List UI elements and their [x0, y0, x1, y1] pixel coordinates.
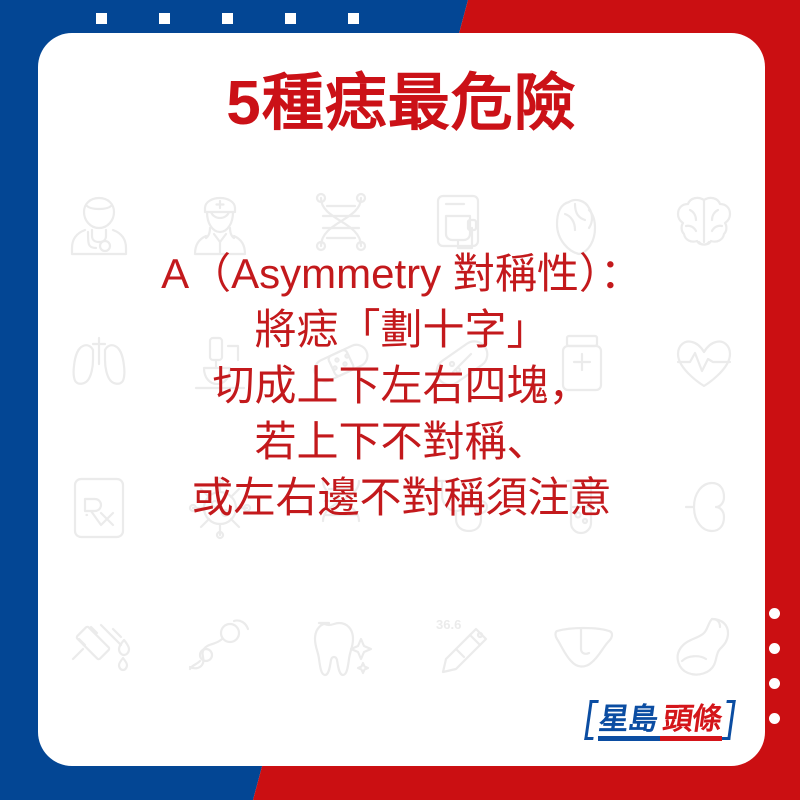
top-dot-4 [285, 13, 296, 24]
logo-underline-red [660, 736, 722, 741]
right-dot-1 [769, 608, 780, 619]
body-line-2: 將痣「劃十字」 [48, 302, 755, 358]
right-dot-4 [769, 713, 780, 724]
logo-text-red: 頭條 [657, 700, 727, 740]
body-text: A（Asymmetry 對稱性）： 將痣「劃十字」 切成上下左右四塊， 若上下不… [38, 246, 765, 525]
sing-tao-headline-logo: 星島 頭條 [587, 698, 733, 742]
content-card: 36.6 [38, 33, 765, 766]
right-dot-2 [769, 643, 780, 654]
body-line-1: A（Asymmetry 對稱性）： [48, 246, 755, 302]
top-dot-5 [348, 13, 359, 24]
top-dot-3 [222, 13, 233, 24]
top-dot-row [96, 13, 359, 24]
top-dot-1 [96, 13, 107, 24]
body-line-4: 若上下不對稱、 [48, 414, 755, 470]
logo-wrap: 星島 頭條 [587, 700, 733, 740]
card-content: 5種痣最危險 A（Asymmetry 對稱性）： 將痣「劃十字」 切成上下左右四… [38, 33, 765, 766]
body-line-5: 或左右邊不對稱須注意 [48, 470, 755, 526]
logo-text-blue: 星島 [593, 700, 663, 740]
top-dot-2 [159, 13, 170, 24]
logo-underline-blue [598, 736, 660, 741]
infographic-canvas: 36.6 [0, 0, 800, 800]
body-line-3: 切成上下左右四塊， [48, 358, 755, 414]
right-dot-3 [769, 678, 780, 689]
right-dot-column [769, 608, 780, 724]
page-title: 5種痣最危險 [226, 71, 576, 136]
